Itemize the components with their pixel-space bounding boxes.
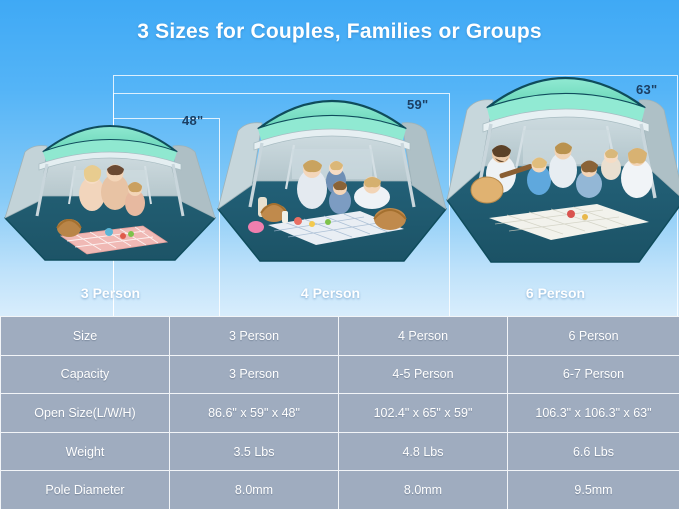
spec-cell-4-person: 8.0mm xyxy=(339,471,508,509)
spec-cell-6-person: 6.6 Lbs xyxy=(508,432,679,471)
spec-row-label: Pole Diameter xyxy=(1,471,170,509)
product-infographic: 3 Sizes for Couples, Families or Groups … xyxy=(0,0,679,509)
page-title: 3 Sizes for Couples, Families or Groups xyxy=(0,20,679,44)
spec-table: Size 3 Person 4 Person 6 Person Capacity… xyxy=(0,316,679,509)
spec-cell-3-person: 3 Person xyxy=(170,355,339,394)
spec-cell-3-person: 3 Person xyxy=(170,317,339,356)
spec-row-label: Weight xyxy=(1,432,170,471)
spec-row-label: Size xyxy=(1,317,170,356)
table-row: Size 3 Person 4 Person 6 Person xyxy=(1,317,679,356)
spec-cell-6-person: 9.5mm xyxy=(508,471,679,509)
spec-cell-4-person: 4-5 Person xyxy=(339,355,508,394)
hero-illustration: 3 Sizes for Couples, Families or Groups … xyxy=(0,0,679,316)
tent-image-6-person xyxy=(443,62,679,284)
spec-cell-4-person: 102.4" x 65" x 59" xyxy=(339,394,508,433)
spec-cell-6-person: 106.3" x 106.3" x 63" xyxy=(508,394,679,433)
tent-image-4-person xyxy=(212,85,452,283)
spec-cell-3-person: 3.5 Lbs xyxy=(170,432,339,471)
tent-caption-3-person: 3 Person xyxy=(38,285,183,301)
spec-row-label: Open Size(L/W/H) xyxy=(1,394,170,433)
spec-cell-3-person: 8.0mm xyxy=(170,471,339,509)
spec-row-label: Capacity xyxy=(1,355,170,394)
spec-cell-6-person: 6 Person xyxy=(508,317,679,356)
spec-cell-3-person: 86.6" x 59" x 48" xyxy=(170,394,339,433)
spec-cell-6-person: 6-7 Person xyxy=(508,355,679,394)
table-row: Capacity 3 Person 4-5 Person 6-7 Person xyxy=(1,355,679,394)
table-row: Open Size(L/W/H) 86.6" x 59" x 48" 102.4… xyxy=(1,394,679,433)
spec-cell-4-person: 4 Person xyxy=(339,317,508,356)
tent-image-3-person xyxy=(0,108,225,283)
table-row: Weight 3.5 Lbs 4.8 Lbs 6.6 Lbs xyxy=(1,432,679,471)
tent-caption-4-person: 4 Person xyxy=(258,285,403,301)
spec-cell-4-person: 4.8 Lbs xyxy=(339,432,508,471)
table-row: Pole Diameter 8.0mm 8.0mm 9.5mm xyxy=(1,471,679,509)
tent-caption-6-person: 6 Person xyxy=(483,285,628,301)
